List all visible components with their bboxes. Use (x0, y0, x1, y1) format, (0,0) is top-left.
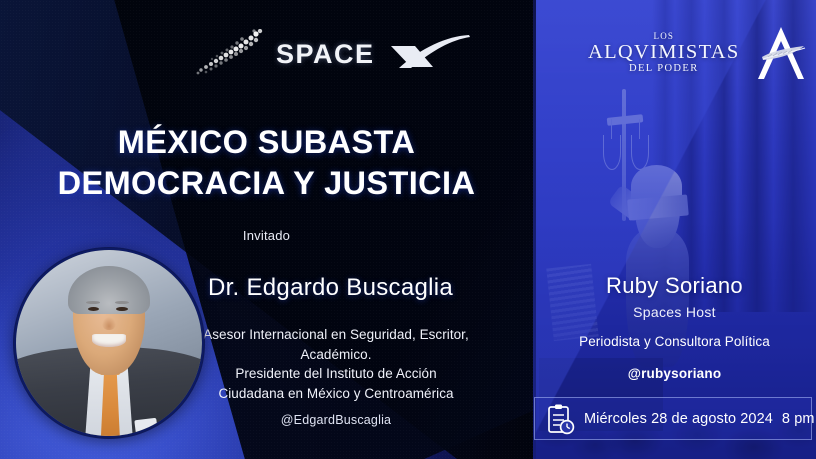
schedule-date: Miércoles 28 de agosto 2024 (584, 411, 773, 427)
event-poster: SPACE MÉXICO SUBASTA DEMOCRACIA Y JUSTIC… (0, 0, 816, 459)
alquimistas-a-feather-icon (750, 24, 812, 82)
alquimistas-sub-text: DEL PODER (588, 64, 740, 75)
alquimistas-logo: LOS ALQVIMISTAS DEL PODER (588, 22, 798, 84)
portrait-eye-right (116, 307, 128, 311)
portrait-eye-left (88, 307, 100, 311)
clipboard-clock-icon (545, 403, 575, 435)
panel-left-edge (533, 0, 536, 459)
spacex-logo: SPACE (196, 28, 444, 80)
poster-title: MÉXICO SUBASTA DEMOCRACIA Y JUSTICIA (0, 122, 533, 205)
alquimistas-main-text: ALQVIMISTAS (588, 42, 740, 63)
alquimistas-wordmark: LOS ALQVIMISTAS DEL PODER (588, 32, 740, 75)
portrait-smile (92, 334, 125, 347)
portrait-eyebrow-right (115, 301, 129, 304)
falcon-wing-icon (196, 29, 268, 79)
schedule-time: 8 pm (782, 411, 815, 427)
schedule-bar: Miércoles 28 de agosto 20248 pm (534, 397, 812, 440)
spacex-x-icon (389, 34, 471, 74)
host-description: Periodista y Consultora Política (533, 334, 816, 349)
spacex-wordmark: SPACE (276, 41, 375, 68)
host-role: Spaces Host (533, 304, 816, 320)
guest-portrait (14, 248, 204, 438)
title-line-2: DEMOCRACIA Y JUSTICIA (0, 163, 533, 204)
guest-label: Invitado (0, 228, 533, 243)
guest-portrait-photo (16, 250, 202, 436)
title-line-1: MÉXICO SUBASTA (118, 124, 416, 160)
alquimistas-los-text: LOS (588, 32, 740, 41)
host-handle: @rubysoriano (533, 366, 816, 381)
portrait-nose (102, 317, 115, 330)
host-name: Ruby Soriano (533, 273, 816, 299)
schedule-text: Miércoles 28 de agosto 20248 pm (584, 411, 815, 427)
